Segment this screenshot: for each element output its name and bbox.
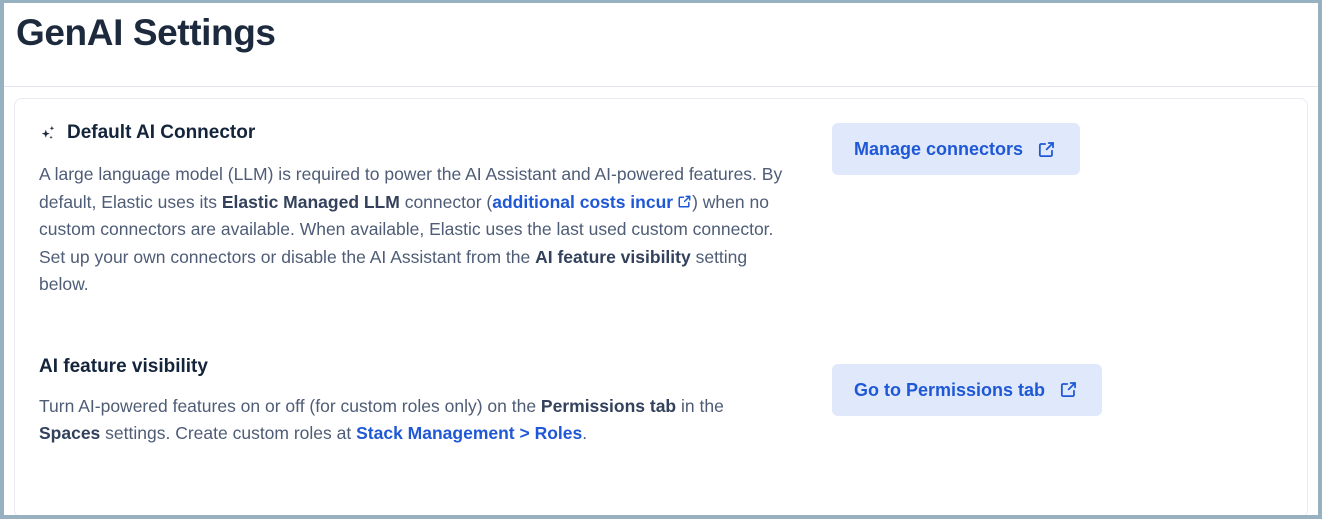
desc-bold-permissions-tab: Permissions tab bbox=[541, 396, 676, 416]
header-divider bbox=[4, 86, 1318, 87]
additional-costs-incur-link[interactable]: additional costs incur bbox=[492, 192, 692, 212]
page-title: GenAI Settings bbox=[4, 3, 1318, 55]
manage-connectors-button-label: Manage connectors bbox=[854, 138, 1023, 160]
go-to-permissions-tab-button-label: Go to Permissions tab bbox=[854, 379, 1045, 401]
external-link-icon bbox=[677, 190, 692, 205]
external-link-icon bbox=[1059, 380, 1078, 399]
desc-bold-ai-feature-visibility: AI feature visibility bbox=[535, 247, 691, 267]
desc-text-part-2: in the bbox=[676, 396, 724, 416]
action-column: Manage connectors bbox=[832, 121, 1080, 175]
section-body: AI feature visibility Turn AI-powered fe… bbox=[39, 355, 784, 448]
go-to-permissions-tab-button[interactable]: Go to Permissions tab bbox=[832, 364, 1102, 416]
section-ai-feature-visibility: AI feature visibility Turn AI-powered fe… bbox=[39, 355, 1285, 448]
app-viewport: GenAI Settings bbox=[0, 0, 1322, 519]
desc-text-part-4: . bbox=[582, 423, 587, 443]
genai-settings-page: GenAI Settings bbox=[4, 3, 1318, 515]
section-description: A large language model (LLM) is required… bbox=[39, 161, 784, 299]
stack-management-roles-link[interactable]: Stack Management > Roles bbox=[356, 423, 582, 443]
desc-text-part-3: settings. Create custom roles at bbox=[100, 423, 356, 443]
settings-card: Default AI Connector A large language mo… bbox=[14, 98, 1308, 515]
external-link-icon bbox=[1037, 140, 1056, 159]
desc-text-part-1: Turn AI-powered features on or off (for … bbox=[39, 396, 541, 416]
desc-bold-spaces: Spaces bbox=[39, 423, 100, 443]
section-heading-default-ai-connector: Default AI Connector bbox=[39, 121, 784, 145]
sparkles-icon bbox=[39, 124, 58, 143]
additional-costs-incur-link-label: additional costs incur bbox=[492, 192, 673, 212]
section-description: Turn AI-powered features on or off (for … bbox=[39, 393, 784, 448]
section-heading-ai-feature-visibility: AI feature visibility bbox=[39, 355, 784, 379]
action-column: Go to Permissions tab bbox=[832, 355, 1102, 416]
section-default-ai-connector: Default AI Connector A large language mo… bbox=[39, 121, 1285, 299]
manage-connectors-button[interactable]: Manage connectors bbox=[832, 123, 1080, 175]
desc-text-part-2: connector ( bbox=[400, 192, 492, 212]
desc-bold-elastic-managed-llm: Elastic Managed LLM bbox=[222, 192, 400, 212]
section-body: Default AI Connector A large language mo… bbox=[39, 121, 784, 299]
section-heading-label: Default AI Connector bbox=[67, 121, 255, 145]
